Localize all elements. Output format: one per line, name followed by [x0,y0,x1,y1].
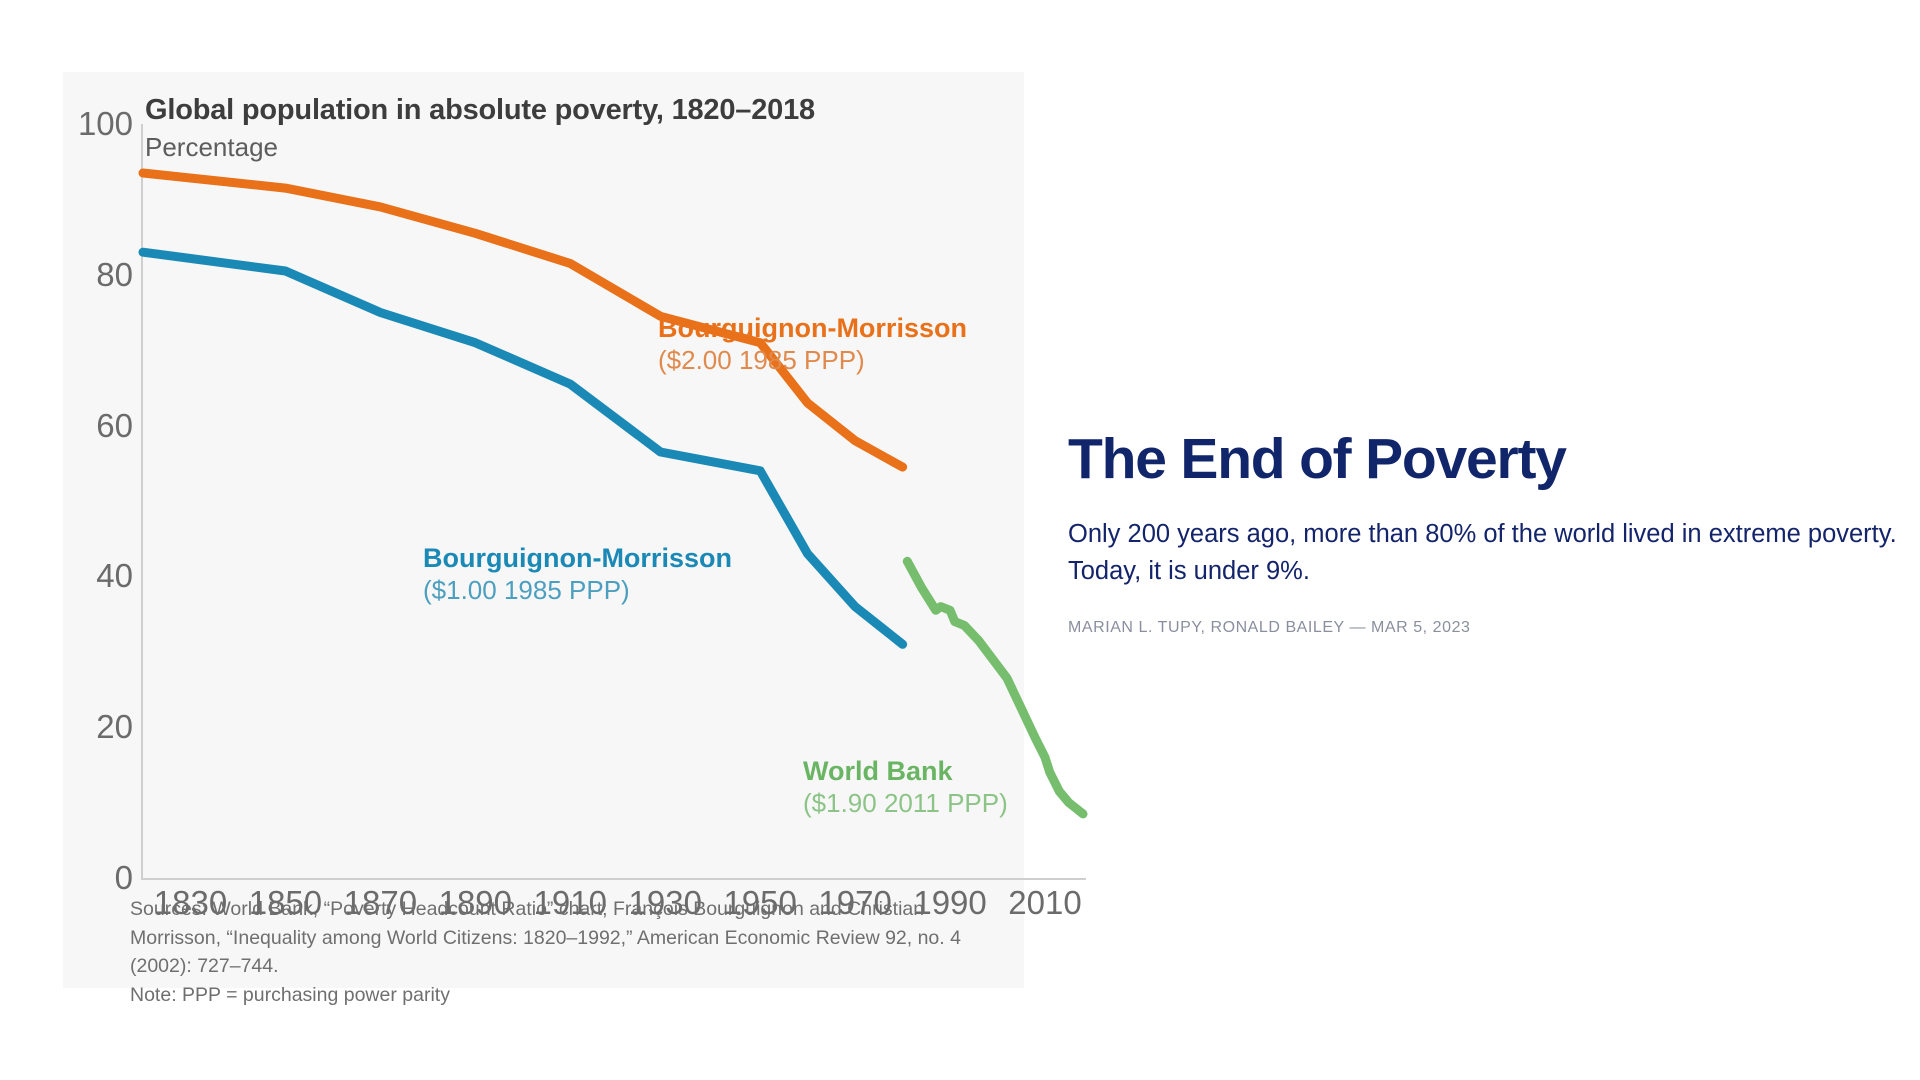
series-label-green-name: World Bank [803,755,1008,788]
article-headline: The End of Poverty [1068,430,1898,490]
series-label-orange-name: Bourguignon-Morrisson [658,312,967,345]
chart-panel: Global population in absolute poverty, 1… [63,72,1024,988]
series-label-orange-sub: ($2.00 1985 PPP) [658,345,967,377]
series-label-orange: Bourguignon-Morrisson ($2.00 1985 PPP) [658,312,967,377]
article-block: The End of Poverty Only 200 years ago, m… [1068,430,1898,637]
chart-note-text: Note: PPP = purchasing power parity [130,981,1005,1010]
article-deck: Only 200 years ago, more than 80% of the… [1068,516,1898,591]
series-label-blue-name: Bourguignon-Morrisson [423,542,732,575]
chart-sources-text: Sources: World Bank, “Poverty Headcount … [130,898,961,977]
series-label-green-sub: ($1.90 2011 PPP) [803,788,1008,820]
series-label-blue-sub: ($1.00 1985 PPP) [423,575,732,607]
article-byline: MARIAN L. TUPY, RONALD BAILEY — MAR 5, 2… [1068,619,1898,637]
chart-plot [63,72,1024,988]
series-label-blue: Bourguignon-Morrisson ($1.00 1985 PPP) [423,542,732,607]
chart-sources: Sources: World Bank, “Poverty Headcount … [130,895,1005,1010]
series-label-green: World Bank ($1.90 2011 PPP) [803,755,1008,820]
